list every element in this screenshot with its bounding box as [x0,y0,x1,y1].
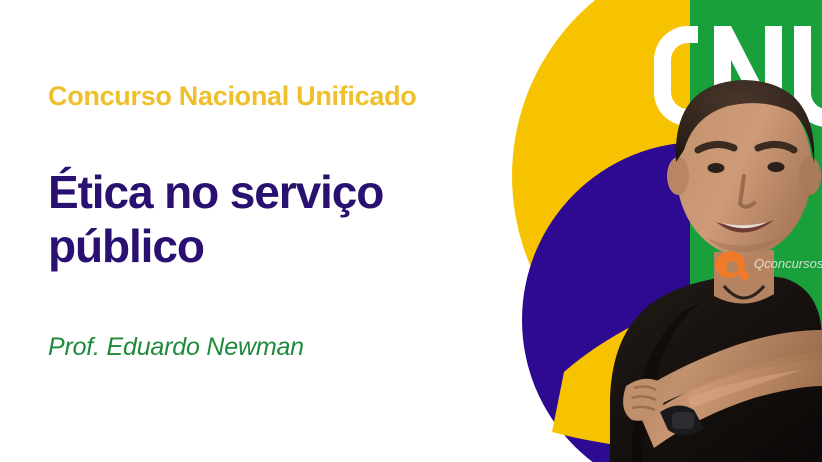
slide-title: Ética no serviço público [48,166,478,274]
slide-title-line-2: público [48,220,204,272]
slide-presenter: Prof. Eduardo Newman [48,333,304,362]
person-eye-right [768,162,785,172]
hero-artwork: Qconcursos [492,0,822,462]
slide-eyebrow: Concurso Nacional Unificado [48,82,416,112]
slide-text-column: Concurso Nacional Unificado Ética no ser… [48,0,528,462]
shirt-brand-text: Qconcursos [754,256,822,271]
slide-title-line-1: Ética no serviço [48,166,383,218]
person-ear-right [799,157,821,195]
person-ear-left [667,157,689,195]
slide-canvas: Qconcursos Concurso Nacional Unificado É… [0,0,822,462]
person-eye-left [708,163,725,173]
